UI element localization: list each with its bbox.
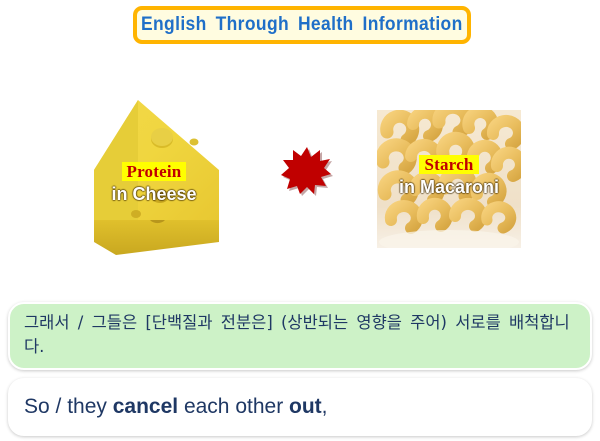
macaroni-pasta-photo (377, 110, 521, 248)
cheese-figure: Protein in Cheese (76, 92, 232, 258)
title-banner: English Through Health Information (133, 6, 471, 44)
starburst-icon (281, 145, 333, 197)
korean-translation-panel: 그래서 / 그들은 [단백질과 전분은] (상반되는 영향을 주어) 서로를 배… (8, 302, 592, 370)
cheese-wedge-photo (76, 92, 232, 258)
english-keyword: cancel (113, 395, 178, 418)
english-keyword: out (289, 395, 322, 418)
page-title: English Through Health Information (141, 14, 463, 36)
figures-row: Protein in Cheese (0, 80, 600, 255)
english-sentence-panel: So / they cancel each other out, (8, 378, 592, 436)
english-fragment: So / they (24, 395, 113, 418)
english-fragment: , (322, 395, 328, 418)
macaroni-figure: Starch in Macaroni (377, 110, 521, 248)
english-fragment: each other (178, 395, 289, 418)
korean-sentence: 그래서 / 그들은 [단백질과 전분은] (상반되는 영향을 주어) 서로를 배… (24, 311, 576, 360)
english-sentence: So / they cancel each other out, (24, 394, 328, 419)
